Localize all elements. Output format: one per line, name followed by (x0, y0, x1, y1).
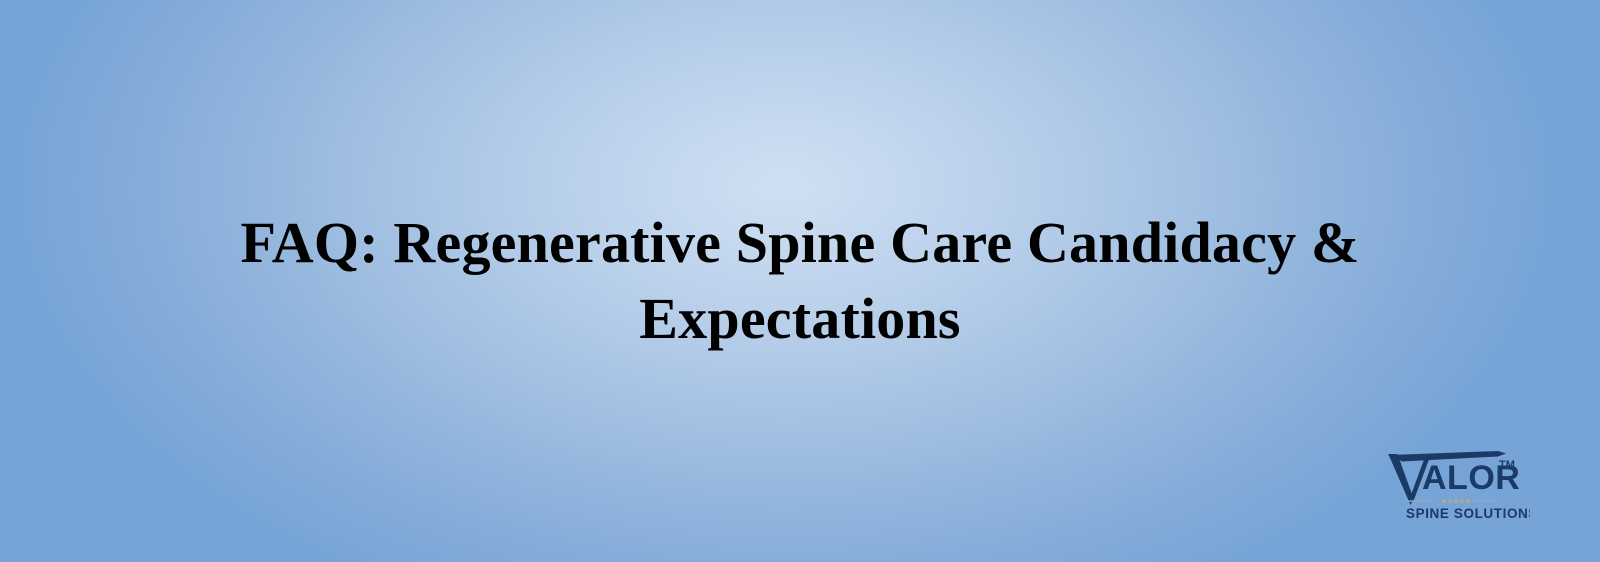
logo-v-left-stroke-icon (1388, 454, 1414, 505)
logo-dot-cluster-icon (1442, 499, 1469, 502)
logo-brand-name: Valor (1378, 526, 1379, 527)
logo-tagline-text: SPINE SOLUTIONS (1378, 526, 1379, 527)
faq-banner: FAQ: Regenerative Spine Care Candidacy &… (0, 0, 1600, 562)
logo-trademark-symbol: TM (1499, 459, 1515, 471)
page-title: FAQ: Regenerative Spine Care Candidacy &… (110, 205, 1490, 357)
logo-tagline: SPINE SOLUTIONS (1406, 506, 1530, 521)
valor-spine-solutions-logo[interactable]: ALOR TM SPINE SOLUTIONS Valor SPINE SOLU… (1378, 446, 1530, 526)
title-block: FAQ: Regenerative Spine Care Candidacy &… (0, 205, 1600, 357)
logo-mark-icon: ALOR TM SPINE SOLUTIONS (1378, 446, 1530, 526)
